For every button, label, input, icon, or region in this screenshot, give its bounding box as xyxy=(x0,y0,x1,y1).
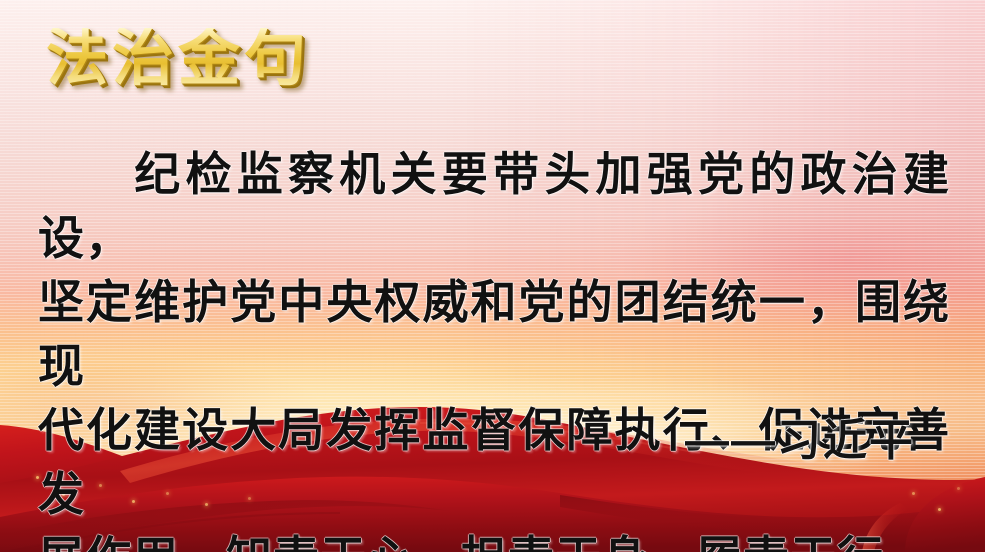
quote-attribution: ——习近平 xyxy=(685,404,915,468)
quote-line: 纪检监察机关要带头加强党的政治建设， xyxy=(38,143,950,271)
quote-body: 纪检监察机关要带头加强党的政治建设， 坚定维护党中央权威和党的团结统一，围绕现 … xyxy=(38,143,950,552)
quote-slide: 法治金句 纪检监察机关要带头加强党的政治建设， 坚定维护党中央权威和党的团结统一… xyxy=(0,0,985,552)
quote-line: 展作用，知责于心、担责于身、履责于行。 xyxy=(38,527,950,552)
page-title: 法治金句 xyxy=(46,28,310,90)
quote-line: 坚定维护党中央权威和党的团结统一，围绕现 xyxy=(38,271,950,399)
